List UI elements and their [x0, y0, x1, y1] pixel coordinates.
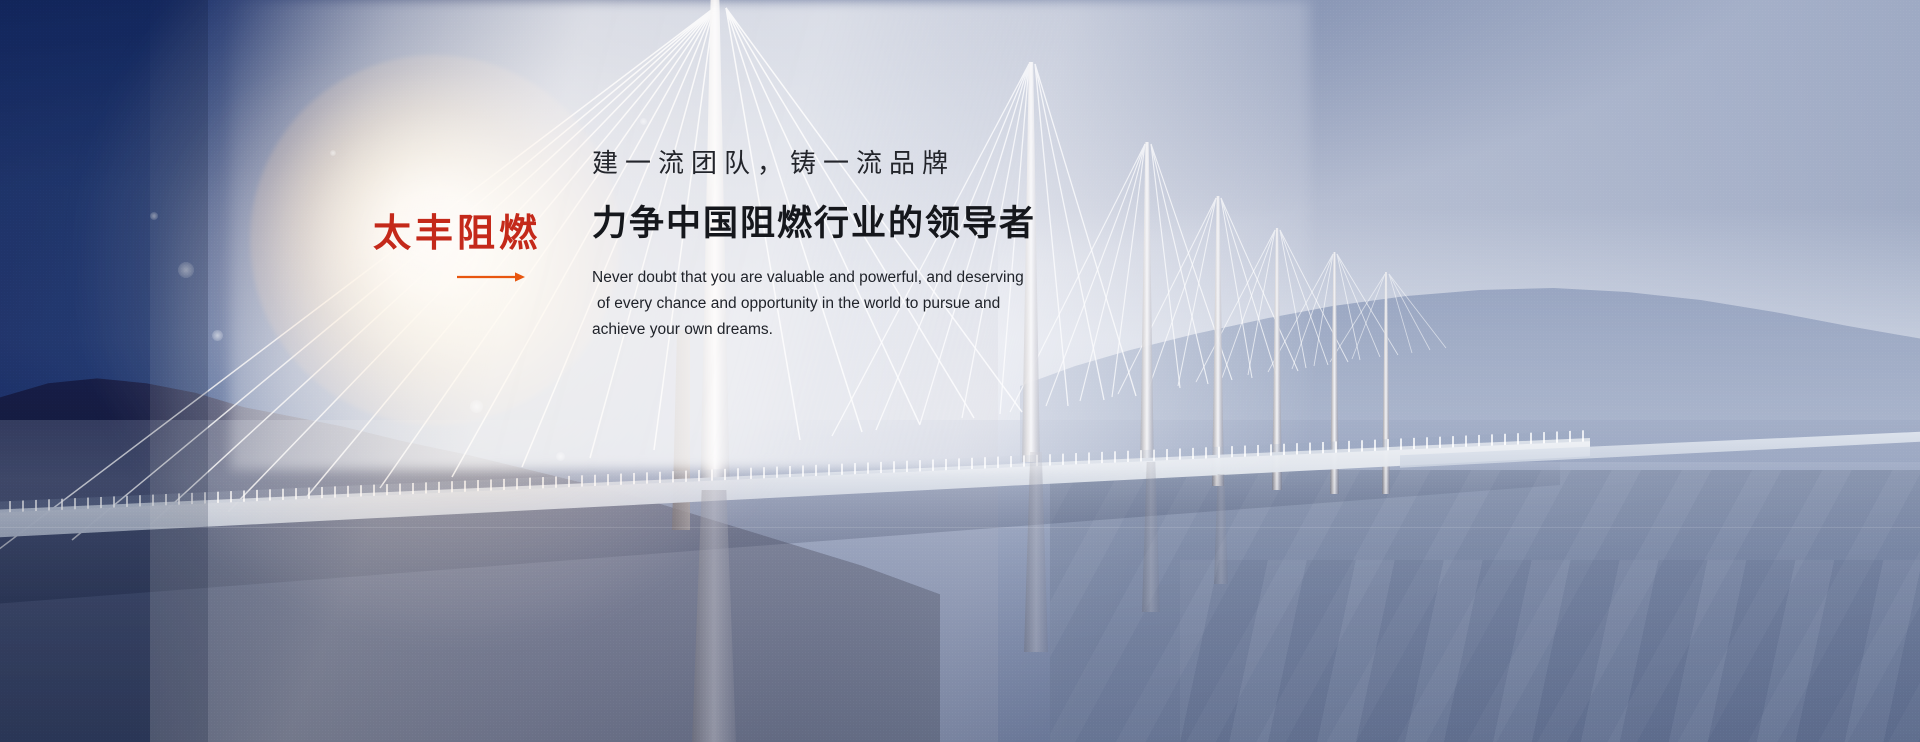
hero-description-line-1: Never doubt that you are valuable and po… — [592, 265, 1152, 291]
arrow-right-icon — [457, 271, 525, 283]
brand-name: 太丰阻燃 — [373, 214, 573, 252]
page-title: 力争中国阻燃行业的领导者 — [592, 205, 1232, 244]
brand-logo[interactable]: 太丰阻燃 — [373, 214, 573, 283]
hero-description-line-3: achieve your own dreams. — [592, 317, 1152, 343]
hero-description: Never doubt that you are valuable and po… — [592, 265, 1152, 343]
hero-banner: 太丰阻燃 建一流团队，铸一流品牌 力争中国阻燃行业的领导者 Never doub… — [0, 0, 1920, 742]
hero-description-line-2: of every chance and opportunity in the w… — [592, 291, 1152, 317]
hero-copy: 建一流团队，铸一流品牌 力争中国阻燃行业的领导者 Never doubt tha… — [592, 150, 1232, 343]
headline-subtitle: 建一流团队，铸一流品牌 — [592, 150, 1232, 179]
